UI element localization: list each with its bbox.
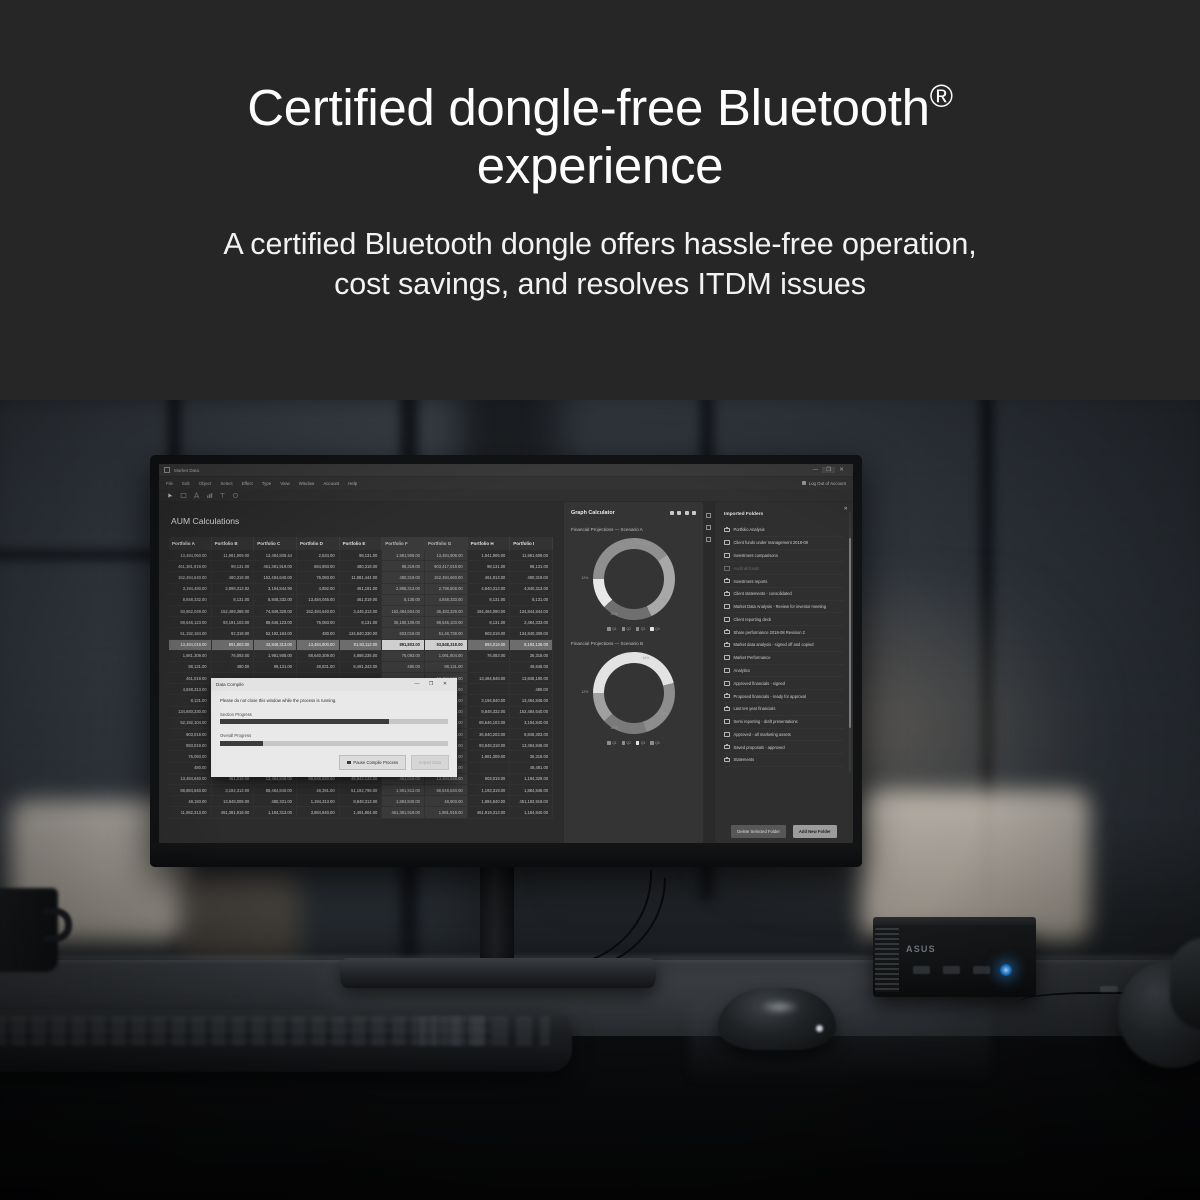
folder-icon [724, 668, 730, 673]
donut-b-label-3: 12% [582, 690, 589, 694]
legend-label: Q4 [655, 627, 660, 631]
legend-label: Q1 [612, 627, 617, 631]
legend-item[interactable]: Q3 [636, 627, 645, 631]
table-cell: 461,381,919.00 [211, 807, 254, 818]
legend-item[interactable]: Q3 [636, 741, 645, 745]
subhead-line-1: A certified Bluetooth dongle offers hass… [223, 227, 976, 261]
minimize-button[interactable]: — [809, 467, 822, 473]
table-cell: 3,194,840.00 [467, 695, 510, 706]
table-row[interactable]: 152,484,640.00480,319.00152,484,640.0076… [169, 572, 553, 583]
table-cell: 903,417,019.00 [424, 561, 467, 572]
table-cell: 43,848,313.00 [254, 639, 297, 650]
table-cell: 88,484,840.00 [254, 784, 297, 795]
table-cell: 98,131.00 [510, 561, 553, 572]
registered-mark: ® [930, 78, 953, 114]
table-cell: 52,192,184.00 [254, 628, 297, 639]
pause-icon [347, 761, 351, 765]
folder-label: Semi reporting - draft presentations [734, 719, 798, 724]
table-cell: 88,646,103.00 [467, 717, 510, 728]
table-cell: 98,131.00 [254, 661, 297, 672]
list-item[interactable]: Share performance 2018-08 Revision 2 [724, 626, 844, 639]
table-column-header[interactable]: Portfolio E [339, 537, 382, 550]
table-cell: 8,848,332.00 [467, 706, 510, 717]
monitor: Market Data — ❐ ✕ File Edit Object Selec… [150, 455, 862, 867]
mouse-highlight [760, 1000, 800, 1014]
table-cell: 451,183,919.00 [510, 796, 553, 807]
folder-icon [724, 707, 730, 712]
table-cell: 4,848,313.00 [169, 684, 211, 695]
menu-item-type[interactable]: Type [262, 481, 272, 486]
table-cell: 8,131.00 [339, 617, 382, 628]
legend-label: Q3 [641, 741, 646, 745]
table-cell: 4,840,313.00 [510, 583, 553, 594]
rectangle-icon[interactable] [180, 492, 187, 499]
legend-item[interactable]: Q4 [650, 627, 659, 631]
table-cell: 76,083.00 [467, 650, 510, 661]
table-cell: 461,913.00 [467, 572, 510, 583]
table-row[interactable]: 51,192,184.0092,319.0052,192,184.00480.0… [169, 628, 553, 639]
table-cell: 88,848,840.00 [424, 784, 467, 795]
table-cell: 1,981,919.00 [424, 807, 467, 818]
table-cell: 52,192,104.00 [169, 717, 211, 728]
table-cell: 480,319.00 [339, 561, 382, 572]
table-cell: 48,831.00 [296, 661, 339, 672]
chart-a-legend: Q1 Q2 Q3 Q4 [571, 627, 696, 631]
table-cell: 13,484,848.00 [467, 673, 510, 684]
table-cell: 93,848,318.00 [467, 740, 510, 751]
account-icon [802, 481, 806, 485]
table-cell: 461,019.00 [169, 673, 211, 684]
table-cell: 893,019.00 [169, 740, 211, 751]
list-item[interactable]: Statements [724, 754, 844, 767]
table-cell: 1,981,908.00 [254, 650, 297, 661]
table-cell [467, 762, 510, 773]
donut-b-label-0: 46% [643, 656, 650, 660]
table-cell: 36,318.00 [510, 650, 553, 661]
table-cell: 461,381,919.00 [254, 561, 297, 572]
table-cell: 76,083.00 [296, 572, 339, 583]
product-scene-photo: Market Data — ❐ ✕ File Edit Object Selec… [0, 400, 1200, 1200]
dot-icon[interactable] [670, 511, 674, 515]
table-cell: 903,019.00 [467, 628, 510, 639]
workspace: AUM Calculations Portfolio APortfolio BP… [159, 502, 853, 843]
close-button[interactable]: ✕ [835, 467, 848, 473]
table-cell: 98,131.00 [424, 661, 467, 672]
dialog-close-button[interactable]: ✕ [438, 681, 452, 687]
application-window: Market Data — ❐ ✕ File Edit Object Selec… [159, 464, 853, 843]
folders-list: ✕ Imported Folders Portfolio AnalysisCli… [715, 502, 853, 817]
table-cell: 88,640,309.00 [296, 650, 339, 661]
trash-icon[interactable] [692, 511, 696, 515]
folder-label: Investment reports [734, 579, 768, 584]
donut-b-label-2: 18% [611, 726, 618, 730]
folder-icon [724, 745, 730, 750]
table-row[interactable]: 8,848,332.008,131.008,848,332.0013,484,0… [169, 594, 553, 605]
list-item[interactable]: Saved proposals - approved [724, 741, 844, 754]
table-cell: 480.00 [211, 661, 254, 672]
table-cell: 3,194,844.90 [254, 583, 297, 594]
table-cell: 98,319.00 [382, 561, 425, 572]
table-cell: 480,331.00 [254, 796, 297, 807]
table-cell: 461,019.00 [339, 594, 382, 605]
table-cell [467, 684, 510, 695]
table-cell: 13,848,190.00 [510, 673, 553, 684]
swatches-icon[interactable] [706, 525, 711, 530]
table-row[interactable]: 48,183.0013,848,009.00480,331.001,194,31… [169, 796, 553, 807]
table-cell: 4,888,235.00 [339, 650, 382, 661]
list-item[interactable]: Market data analysis - signed off and co… [724, 639, 844, 652]
table-cell: 98,131.00 [467, 561, 510, 572]
table-cell: 8,130.00 [382, 594, 425, 605]
menu-item-help[interactable]: Help [348, 481, 357, 486]
section-progress-label: Section Progress [220, 712, 448, 717]
table-cell: 76,093.00 [211, 650, 254, 661]
table-cell: 8,848,303.00 [510, 729, 553, 740]
table-row[interactable]: 11,982,313.00461,381,919.001,184,313.003… [169, 807, 553, 818]
text-icon[interactable] [219, 492, 226, 499]
table-row[interactable]: 3,194,480.002,898,313.923,194,844.904,89… [169, 583, 553, 594]
table-cell: 93,848,318.00 [424, 639, 467, 650]
dialog-maximize-button[interactable]: ❐ [424, 681, 438, 687]
table-cell: 8,131.00 [467, 617, 510, 628]
table-cell: 2,484,333.00 [510, 617, 553, 628]
logout-account-link[interactable]: Log Out of Account [809, 481, 846, 486]
menu-item-window[interactable]: Window [299, 481, 315, 486]
folder-label: Client funds under management 2018-08 [734, 540, 808, 545]
table-row[interactable]: 88,646,123.0093,191,103.0088,646,123.007… [169, 617, 553, 628]
table-column-header[interactable]: Portfolio C [254, 537, 297, 550]
folder-icon [724, 604, 730, 609]
table-cell: 36,483,329.00 [424, 605, 467, 616]
table-cell [467, 661, 510, 672]
folder-label: Approved - all marketing assets [734, 732, 791, 737]
list-item[interactable]: Last ten year financials [724, 703, 844, 716]
table-cell: 152,484,640.00 [510, 706, 553, 717]
folder-icon [724, 617, 730, 622]
list-item[interactable]: Investment comparisons [724, 550, 844, 563]
legend-item[interactable]: Q4 [650, 741, 659, 745]
list-item[interactable]: Market Data Analysis - Review for invest… [724, 601, 844, 614]
folder-label: Client reporting deck [734, 617, 772, 622]
folders-header: Imported Folders [724, 512, 844, 517]
folder-icon [724, 732, 730, 737]
usb-port [973, 966, 990, 974]
table-cell: 152,484,604.00 [382, 605, 425, 616]
table-cell: 1,941,906.00 [467, 550, 510, 561]
table-cell: 134,844,844.00 [510, 605, 553, 616]
legend-item[interactable]: Q2 [622, 627, 631, 631]
table-column-header[interactable]: Portfolio I [510, 537, 553, 550]
table-cell: 76,093.00 [382, 650, 425, 661]
table-cell: 461,919,313.00 [467, 807, 510, 818]
folder-icon [724, 592, 730, 597]
table-cell: 2,798,808.00 [424, 583, 467, 594]
table-row[interactable]: 13,484,060.0011,981,909.0013,484,838.442… [169, 550, 553, 561]
legend-item[interactable]: Q2 [622, 741, 631, 745]
table-cell: 1,981,309.00 [169, 650, 211, 661]
table-cell: 13,848,009.00 [211, 796, 254, 807]
table-cell: 11,981,609.00 [510, 550, 553, 561]
donut-a-label-0: 40% [643, 542, 650, 546]
page-subtitle: A certified Bluetooth dongle offers hass… [0, 225, 1200, 304]
folder-icon [724, 579, 730, 584]
list-item[interactable]: Approved financials - signed [724, 677, 844, 690]
table-cell: 1,884,840.00 [382, 796, 425, 807]
folder-label: Saved proposals - approved [734, 745, 785, 750]
legend-label: Q2 [626, 741, 631, 745]
folders-footer: Delete Selected Folder Add New Folder [715, 817, 853, 843]
table-column-header[interactable]: Portfolio G [424, 537, 467, 550]
table-cell: 2,898,313.00 [382, 583, 425, 594]
table-cell: 134,840,309.00 [510, 628, 553, 639]
monitor-stand-base [340, 958, 656, 988]
table-cell: 91,93,113.00 [339, 639, 382, 650]
table-cell: 1,981,309.00 [467, 751, 510, 762]
table-cell: 48,183.00 [169, 796, 211, 807]
table-cell: 891,803.00 [382, 639, 425, 650]
subhead-line-2: cost savings, and resolves ITDM issues [334, 267, 866, 301]
cushion [180, 870, 300, 960]
keyboard-keys [0, 1016, 492, 1046]
table-cell: 98,131.00 [339, 550, 382, 561]
list-item[interactable]: Investment reports [724, 575, 844, 588]
table-cell: 88,646,123.00 [169, 617, 211, 628]
table-cell: 1,193,319.00 [467, 784, 510, 795]
table-cell: 152,484,660.00 [424, 572, 467, 583]
table-cell: 74,849,328.00 [254, 605, 297, 616]
table-row[interactable]: 98,131.00480.0098,131.0048,831.008,481,3… [169, 661, 553, 672]
headline-line-1: Certified dongle-free Bluetooth [247, 79, 929, 136]
folder-icon [724, 758, 730, 763]
table-cell: 8,131.00 [467, 594, 510, 605]
cable-plug [1100, 986, 1118, 992]
list-item[interactable]: Portfolio Analysis [724, 524, 844, 537]
table-pane: AUM Calculations Portfolio APortfolio BP… [159, 502, 563, 843]
list-item[interactable]: Proposed financials - ready for approval [724, 690, 844, 703]
table-cell: 1,184,329.00 [510, 773, 553, 784]
table-cell: 480,319.00 [382, 572, 425, 583]
table-row[interactable]: 1,981,309.0076,093.001,981,908.0088,640,… [169, 650, 553, 661]
window-titlebar: Market Data — ❐ ✕ [159, 464, 853, 477]
table-cell: 51,192,798.00 [339, 784, 382, 795]
icon-rail [703, 502, 714, 843]
table-cell: 2,898,313.92 [211, 583, 254, 594]
table-cell: 8,848,332.00 [254, 594, 297, 605]
table-title: AUM Calculations [171, 516, 553, 526]
close-panel-icon[interactable]: ✕ [844, 506, 848, 512]
table-cell: 3,184,313.00 [211, 784, 254, 795]
menu-item-effect[interactable]: Effect [242, 481, 253, 486]
folder-label: Market Performance [734, 655, 771, 660]
dialog-body: Please do not close this window while th… [211, 691, 457, 755]
window-title: Market Data [174, 468, 199, 473]
power-button[interactable] [1000, 964, 1012, 976]
table-row[interactable]: 93,862,049.00152,489,388.0074,849,328.00… [169, 605, 553, 616]
list-item[interactable]: Semi reporting - draft presentations [724, 716, 844, 729]
table-column-header[interactable]: Portfolio D [296, 537, 339, 550]
data-compile-dialog: Data Compile — ❐ ✕ Please do not close t… [211, 678, 457, 777]
computer-mouse [718, 988, 836, 1050]
table-cell: 1,981,913.00 [382, 784, 425, 795]
promo-page: Certified dongle-free Bluetooth® experie… [0, 0, 1200, 1200]
donut-a-label-1: 28% [661, 598, 668, 602]
table-cell: 93,862,049.00 [169, 605, 211, 616]
table-cell: 480,319.00 [510, 572, 553, 583]
section-progress-bar [220, 719, 448, 724]
headline-band: Certified dongle-free Bluetooth® experie… [0, 0, 1200, 400]
chart-icon[interactable] [206, 492, 213, 499]
mini-pc-vent [875, 928, 899, 992]
graph-panel-header: Graph Calculator [571, 510, 696, 516]
imported-folders-panel: ✕ Imported Folders Portfolio AnalysisCli… [714, 502, 853, 843]
app-icon [164, 467, 170, 473]
table-cell: 88,646,103.00 [424, 617, 467, 628]
table-cell: 1,184,313.00 [254, 807, 297, 818]
table-cell: 51,192,184.00 [169, 628, 211, 639]
menu-item-select[interactable]: Select [220, 481, 232, 486]
table-cell: 3,884,840.00 [296, 807, 339, 818]
list-item[interactable]: Client statements - consolidated [724, 588, 844, 601]
table-cell: 480.00 [169, 762, 211, 773]
table-cell: 48,481.00 [510, 762, 553, 773]
list-item[interactable]: Market Performance [724, 652, 844, 665]
dot-icon[interactable] [677, 511, 681, 515]
graph-calculator-panel: Graph Calculator Financial Projections —… [563, 502, 703, 843]
pen-icon[interactable] [193, 492, 200, 499]
menu-item-file[interactable]: File [166, 481, 173, 486]
folders-scrollbar[interactable] [849, 512, 851, 772]
donut-chart-b: 46% 24% 18% 12% [581, 650, 687, 736]
table-cell: 8,131.00 [510, 594, 553, 605]
table-cell: 88,646,123.00 [254, 617, 297, 628]
table-cell: 11,981,444.00 [339, 572, 382, 583]
table-cell: 13,484,800.00 [296, 639, 339, 650]
table-column-header[interactable]: Portfolio H [467, 537, 510, 550]
table-cell: 1,194,313.00 [296, 796, 339, 807]
table-cell: 98,131.00 [211, 561, 254, 572]
import-data-button: Import Data [411, 755, 449, 770]
donut-ring-a [593, 538, 675, 620]
dialog-titlebar: Data Compile — ❐ ✕ [211, 678, 457, 691]
table-cell: 76,093.00 [169, 751, 211, 762]
table-cell: 8,131.00 [169, 695, 211, 706]
table-cell: 13,484,848.00 [510, 740, 553, 751]
cursor-icon[interactable] [167, 492, 174, 499]
pause-button-label: Pause Compile Process [353, 760, 398, 765]
table-cell: 1,981,909.00 [382, 550, 425, 561]
folder-icon [724, 655, 730, 660]
table-cell: 461,381,919.00 [169, 561, 211, 572]
table-column-header[interactable]: Portfolio F [382, 537, 425, 550]
table-cell: 36,180,109.00 [382, 617, 425, 628]
table-cell: 76,083.00 [296, 617, 339, 628]
table-cell: 3,194,840.00 [510, 717, 553, 728]
folder-label: Proposed financials - ready for approval [734, 694, 806, 699]
menu-item-edit[interactable]: Edit [182, 481, 190, 486]
list-item[interactable]: Audit all funds [724, 562, 844, 575]
folder-icon [724, 566, 730, 571]
table-cell: 480.00 [510, 684, 553, 695]
list-item[interactable]: Client reporting deck [724, 613, 844, 626]
table-row[interactable]: 461,381,919.0098,131.00461,381,919.00684… [169, 561, 553, 572]
table-cell: 8,848,313.00 [339, 796, 382, 807]
overall-progress-label: Overall Progress [220, 733, 448, 738]
list-item[interactable]: Approved - all marketing assets [724, 729, 844, 742]
folder-label: Client statements - consolidated [734, 591, 792, 596]
list-item[interactable]: Client funds under management 2018-08 [724, 537, 844, 550]
table-cell: 480.00 [296, 628, 339, 639]
legend-label: Q2 [626, 627, 631, 631]
legend-label: Q4 [655, 741, 660, 745]
toolbar [159, 489, 853, 502]
table-column-header[interactable]: Portfolio B [211, 537, 254, 550]
shape-icon[interactable] [232, 492, 239, 499]
table-column-header[interactable]: Portfolio A [169, 537, 211, 550]
menu-item-view[interactable]: View [280, 481, 289, 486]
legend-label: Q1 [612, 741, 617, 745]
folder-icon [724, 553, 730, 558]
folder-icon [724, 540, 730, 545]
table-cell: 98,131.00 [169, 661, 211, 672]
menu-item-account[interactable]: Account [323, 481, 339, 486]
menu-item-object[interactable]: Object [199, 481, 212, 486]
donut-ring-b [593, 652, 675, 734]
table-row[interactable]: 88,884,840.003,184,313.0088,484,840.0048… [169, 784, 553, 795]
folder-label: Statements [734, 757, 755, 762]
table-cell: 903,019.00 [169, 729, 211, 740]
monitor-stand-neck [480, 867, 514, 965]
folder-label: Market Data Analysis - Review for invest… [734, 604, 827, 609]
usb-port [943, 966, 960, 974]
footer-icon-group [724, 838, 844, 844]
delete-selected-folder-button[interactable]: Delete Selected Folder [731, 825, 786, 837]
folder-label: Investment comparisons [734, 553, 778, 558]
grid-icon[interactable] [685, 511, 689, 515]
legend-item[interactable]: Q1 [607, 627, 616, 631]
layers-icon[interactable] [706, 513, 711, 518]
page-title: Certified dongle-free Bluetooth® experie… [0, 78, 1200, 195]
pause-compile-process-button[interactable]: Pause Compile Process [339, 755, 406, 770]
legend-label: Q3 [641, 627, 646, 631]
status-bar: Preferences Image Properties [159, 840, 563, 843]
folder-icon [724, 681, 730, 686]
list-item[interactable]: Analytics [724, 665, 844, 678]
chart-a-label: Financial Projections — Scenario A [571, 527, 696, 532]
table-header-row: Portfolio APortfolio BPortfolio CPortfol… [169, 537, 553, 550]
table-cell: 8,193,138.00 [510, 639, 553, 650]
add-new-folder-button[interactable]: Add New Folder [793, 825, 837, 837]
table-cell: 1,884,848.00 [510, 784, 553, 795]
chart-b-legend: Q1 Q2 Q3 Q4 [571, 741, 696, 745]
legend-item[interactable]: Q1 [607, 741, 616, 745]
mouse-specular-dot [816, 1025, 823, 1032]
table-row[interactable]: 13,484,019.00891,803.0043,848,313.0013,4… [169, 639, 553, 650]
maximize-button[interactable]: ❐ [822, 467, 835, 473]
table-cell: 92,319.00 [211, 628, 254, 639]
table-cell: 152,489,388.00 [211, 605, 254, 616]
dialog-minimize-button[interactable]: — [410, 681, 424, 687]
folder-icon [724, 528, 730, 533]
table-cell: 152,484,640.00 [169, 572, 211, 583]
folder-label: Market data analysis - signed off and co… [734, 642, 814, 647]
graph-panel-title: Graph Calculator [571, 510, 615, 516]
properties-icon[interactable] [706, 537, 711, 542]
table-cell: 891,803.00 [211, 639, 254, 650]
table-cell: 13,484,848.00 [510, 695, 553, 706]
table-cell: 48,848.00 [510, 661, 553, 672]
table-cell: 51,48,738.00 [424, 628, 467, 639]
overall-progress-bar [220, 741, 448, 746]
